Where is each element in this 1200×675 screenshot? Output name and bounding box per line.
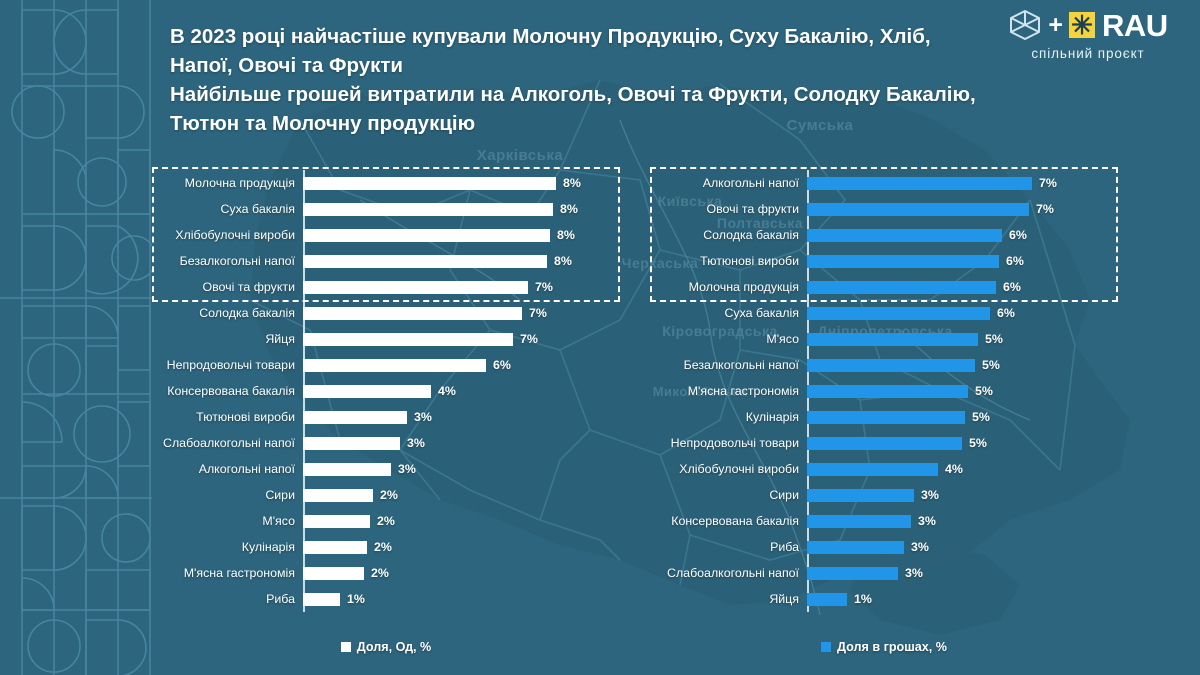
bar-value-label: 6%	[1006, 254, 1024, 268]
bar	[303, 385, 431, 398]
bar-track: 4%	[807, 456, 1118, 482]
bar	[303, 411, 407, 424]
bar-track: 8%	[303, 222, 620, 248]
bar	[807, 203, 1029, 216]
bar-category-label: Хлібобулочні вироби	[650, 462, 807, 476]
bar-track: 4%	[303, 378, 620, 404]
bar-value-label: 1%	[854, 592, 872, 606]
title-line-3: Найбільше грошей витратили на Алкоголь, …	[170, 80, 970, 109]
bar	[807, 359, 975, 372]
bar	[303, 567, 364, 580]
bar-track: 7%	[807, 196, 1118, 222]
bar-category-label: Риба	[152, 592, 303, 606]
bar-value-label: 6%	[493, 358, 511, 372]
bar-value-label: 1%	[347, 592, 365, 606]
bar-track: 5%	[807, 326, 1118, 352]
legend-swatch-icon	[821, 642, 831, 652]
bar-category-label: Молочна продукція	[152, 176, 303, 190]
bar-value-label: 6%	[1003, 280, 1021, 294]
bar-value-label: 7%	[1039, 176, 1057, 190]
bar	[303, 281, 528, 294]
bar	[807, 255, 999, 268]
bar-track: 7%	[303, 300, 620, 326]
bar	[807, 541, 904, 554]
bar-value-label: 2%	[377, 514, 395, 528]
bar-track: 2%	[303, 482, 620, 508]
bar-row: Тютюнові вироби3%	[152, 404, 620, 430]
bar-value-label: 6%	[1009, 228, 1027, 242]
bar-track: 5%	[807, 378, 1118, 404]
bar-row: Тютюнові вироби6%	[650, 248, 1118, 274]
bar-row: Алкогольні напої7%	[650, 170, 1118, 196]
bar-rows-left: Молочна продукція8%Суха бакалія8%Хлібобу…	[152, 170, 620, 612]
bar-category-label: Молочна продукція	[650, 280, 807, 294]
bar	[303, 359, 486, 372]
bar-value-label: 5%	[972, 410, 990, 424]
bar	[807, 281, 996, 294]
bar-track: 1%	[303, 586, 620, 612]
bar-category-label: Суха бакалія	[650, 306, 807, 320]
logo-subtitle: спільний проєкт	[1031, 46, 1144, 61]
bar-category-label: Консервована бакалія	[650, 514, 807, 528]
bar	[807, 411, 965, 424]
bar	[303, 229, 550, 242]
bar-row: Алкогольні напої3%	[152, 456, 620, 482]
bar	[303, 541, 367, 554]
bar-track: 2%	[303, 534, 620, 560]
bar-category-label: Безалкогольні напої	[152, 254, 303, 268]
bar-value-label: 8%	[560, 202, 578, 216]
bar-value-label: 3%	[921, 488, 939, 502]
bar-row: Риба3%	[650, 534, 1118, 560]
bar-category-label: Тютюнові вироби	[650, 254, 807, 268]
bar-track: 3%	[807, 482, 1118, 508]
bar-row: Сири3%	[650, 482, 1118, 508]
bar-track: 3%	[807, 508, 1118, 534]
bar-value-label: 5%	[975, 384, 993, 398]
bar-row: Солодка бакалія6%	[650, 222, 1118, 248]
bar-value-label: 3%	[911, 540, 929, 554]
bar-row: Безалкогольні напої5%	[650, 352, 1118, 378]
bar-row: Кулінарія2%	[152, 534, 620, 560]
bar-track: 3%	[807, 534, 1118, 560]
chart-money-share: Алкогольні напої7%Овочі та фрукти7%Солод…	[650, 170, 1118, 640]
bar-track: 3%	[807, 560, 1118, 586]
bar-category-label: Солодка бакалія	[650, 228, 807, 242]
bar-row: Молочна продукція6%	[650, 274, 1118, 300]
bar	[807, 333, 978, 346]
bar-value-label: 3%	[414, 410, 432, 424]
bar-row: Хлібобулочні вироби8%	[152, 222, 620, 248]
bar-row: Риба1%	[152, 586, 620, 612]
bar-row: Сири2%	[152, 482, 620, 508]
bar-row: Овочі та фрукти7%	[152, 274, 620, 300]
bar-row: Суха бакалія8%	[152, 196, 620, 222]
bar-value-label: 2%	[371, 566, 389, 580]
bar	[303, 177, 556, 190]
bar-category-label: Тютюнові вироби	[152, 410, 303, 424]
bar-value-label: 8%	[554, 254, 572, 268]
bar-row: Яйця1%	[650, 586, 1118, 612]
bar-value-label: 7%	[529, 306, 547, 320]
bar-track: 3%	[303, 430, 620, 456]
bar-category-label: Хлібобулочні вироби	[152, 228, 303, 242]
bar-category-label: Непродовольчі товари	[152, 358, 303, 372]
bar-category-label: Овочі та фрукти	[152, 280, 303, 294]
title-line-4: Тютюн та Молочну продукцію	[170, 109, 970, 138]
bar	[303, 255, 547, 268]
bar	[303, 333, 513, 346]
bar-row: Консервована бакалія4%	[152, 378, 620, 404]
bar-rows-right: Алкогольні напої7%Овочі та фрукти7%Солод…	[650, 170, 1118, 612]
bar-track: 6%	[807, 274, 1118, 300]
bar-value-label: 5%	[982, 358, 1000, 372]
bar-value-label: 5%	[969, 436, 987, 450]
bar-track: 7%	[303, 326, 620, 352]
logo[interactable]: + ✳ RAU спільний проєкт	[1000, 6, 1176, 68]
bar-track: 8%	[303, 196, 620, 222]
bar-row: Кулінарія5%	[650, 404, 1118, 430]
bar	[303, 593, 340, 606]
bar-row: Безалкогольні напої8%	[152, 248, 620, 274]
bar	[807, 437, 962, 450]
bar-value-label: 3%	[905, 566, 923, 580]
bar	[303, 437, 400, 450]
bar-category-label: Овочі та фрукти	[650, 202, 807, 216]
bar-value-label: 8%	[557, 228, 575, 242]
bar	[807, 567, 898, 580]
bar-row: Непродовольчі товари6%	[152, 352, 620, 378]
bar-row: Хлібобулочні вироби4%	[650, 456, 1118, 482]
bar-track: 6%	[807, 222, 1118, 248]
bar-track: 5%	[807, 430, 1118, 456]
legend-swatch-icon	[341, 642, 351, 652]
bar-value-label: 6%	[997, 306, 1015, 320]
bar-value-label: 2%	[374, 540, 392, 554]
bar	[807, 307, 990, 320]
bar	[303, 515, 370, 528]
cube-outline-icon	[1008, 9, 1042, 41]
bar-track: 8%	[303, 248, 620, 274]
title-line-1: В 2023 році найчастіше купували Молочну …	[170, 22, 970, 51]
bar-category-label: Слабоалкогольні напої	[152, 436, 303, 450]
bar-value-label: 8%	[563, 176, 581, 190]
bar-track: 7%	[303, 274, 620, 300]
bar-category-label: Консервована бакалія	[152, 384, 303, 398]
bar-category-label: Сири	[152, 488, 303, 502]
bar-category-label: Яйця	[650, 592, 807, 606]
bar-row: Слабоалкогольні напої3%	[152, 430, 620, 456]
bar-value-label: 7%	[535, 280, 553, 294]
bar-row: Слабоалкогольні напої3%	[650, 560, 1118, 586]
bar-value-label: 4%	[945, 462, 963, 476]
brand-name: RAU	[1102, 10, 1168, 41]
logo-row: + ✳ RAU	[1008, 6, 1167, 44]
bar	[303, 203, 553, 216]
bar-track: 5%	[807, 404, 1118, 430]
bar	[807, 515, 911, 528]
bar	[303, 307, 522, 320]
bar-track: 8%	[303, 170, 620, 196]
bar	[303, 463, 391, 476]
bar-row: М'ясна гастрономія2%	[152, 560, 620, 586]
bar-track: 7%	[807, 170, 1118, 196]
bar-value-label: 7%	[1036, 202, 1054, 216]
bar-category-label: М'ясна гастрономія	[650, 384, 807, 398]
bar-category-label: Алкогольні напої	[152, 462, 303, 476]
bar-category-label: Непродовольчі товари	[650, 436, 807, 450]
bar-category-label: Солодка бакалія	[152, 306, 303, 320]
bar	[807, 489, 914, 502]
legend-label: Доля в грошах, %	[837, 640, 947, 654]
bar-track: 3%	[303, 404, 620, 430]
bar	[807, 463, 938, 476]
bar-value-label: 3%	[918, 514, 936, 528]
bar-track: 2%	[303, 508, 620, 534]
bar-value-label: 5%	[985, 332, 1003, 346]
page-title: В 2023 році найчастіше купували Молочну …	[170, 22, 970, 138]
bar-track: 6%	[303, 352, 620, 378]
bar-track: 2%	[303, 560, 620, 586]
bar	[807, 385, 968, 398]
bar-track: 5%	[807, 352, 1118, 378]
bar-category-label: М'ясна гастрономія	[152, 566, 303, 580]
bar-track: 3%	[303, 456, 620, 482]
bar-track: 6%	[807, 300, 1118, 326]
legend-label: Доля, Од, %	[357, 640, 432, 654]
chart-units-share: Молочна продукція8%Суха бакалія8%Хлібобу…	[152, 170, 620, 640]
bar-row: Суха бакалія6%	[650, 300, 1118, 326]
bar-track: 6%	[807, 248, 1118, 274]
bar-category-label: Безалкогольні напої	[650, 358, 807, 372]
bar-value-label: 3%	[407, 436, 425, 450]
bar-row: Молочна продукція8%	[152, 170, 620, 196]
bar-category-label: Кулінарія	[152, 540, 303, 554]
bar	[807, 593, 847, 606]
bar-category-label: Риба	[650, 540, 807, 554]
bar-category-label: Суха бакалія	[152, 202, 303, 216]
bar-row: Яйця7%	[152, 326, 620, 352]
bar-track: 1%	[807, 586, 1118, 612]
bar	[303, 489, 373, 502]
bar-value-label: 4%	[438, 384, 456, 398]
bar-value-label: 2%	[380, 488, 398, 502]
bar	[807, 177, 1032, 190]
bar-category-label: Алкогольні напої	[650, 176, 807, 190]
bar-row: Консервована бакалія3%	[650, 508, 1118, 534]
plus-sign: +	[1048, 13, 1063, 38]
bar-row: М'ясо2%	[152, 508, 620, 534]
star-burst-icon: ✳	[1069, 12, 1095, 38]
bar-row: Солодка бакалія7%	[152, 300, 620, 326]
bar-row: Овочі та фрукти7%	[650, 196, 1118, 222]
legend-right: Доля в грошах, %	[650, 640, 1118, 654]
bar-category-label: Яйця	[152, 332, 303, 346]
legend-left: Доля, Од, %	[152, 640, 620, 654]
bar-row: М'ясна гастрономія5%	[650, 378, 1118, 404]
bar-category-label: М'ясо	[152, 514, 303, 528]
title-line-2: Напої, Овочі та Фрукти	[170, 51, 970, 80]
bar	[807, 229, 1002, 242]
bar-category-label: Кулінарія	[650, 410, 807, 424]
bar-row: Непродовольчі товари5%	[650, 430, 1118, 456]
bar-row: М'ясо5%	[650, 326, 1118, 352]
bar-category-label: Сири	[650, 488, 807, 502]
bar-value-label: 3%	[398, 462, 416, 476]
bar-category-label: М'ясо	[650, 332, 807, 346]
bar-value-label: 7%	[520, 332, 538, 346]
bar-category-label: Слабоалкогольні напої	[650, 566, 807, 580]
